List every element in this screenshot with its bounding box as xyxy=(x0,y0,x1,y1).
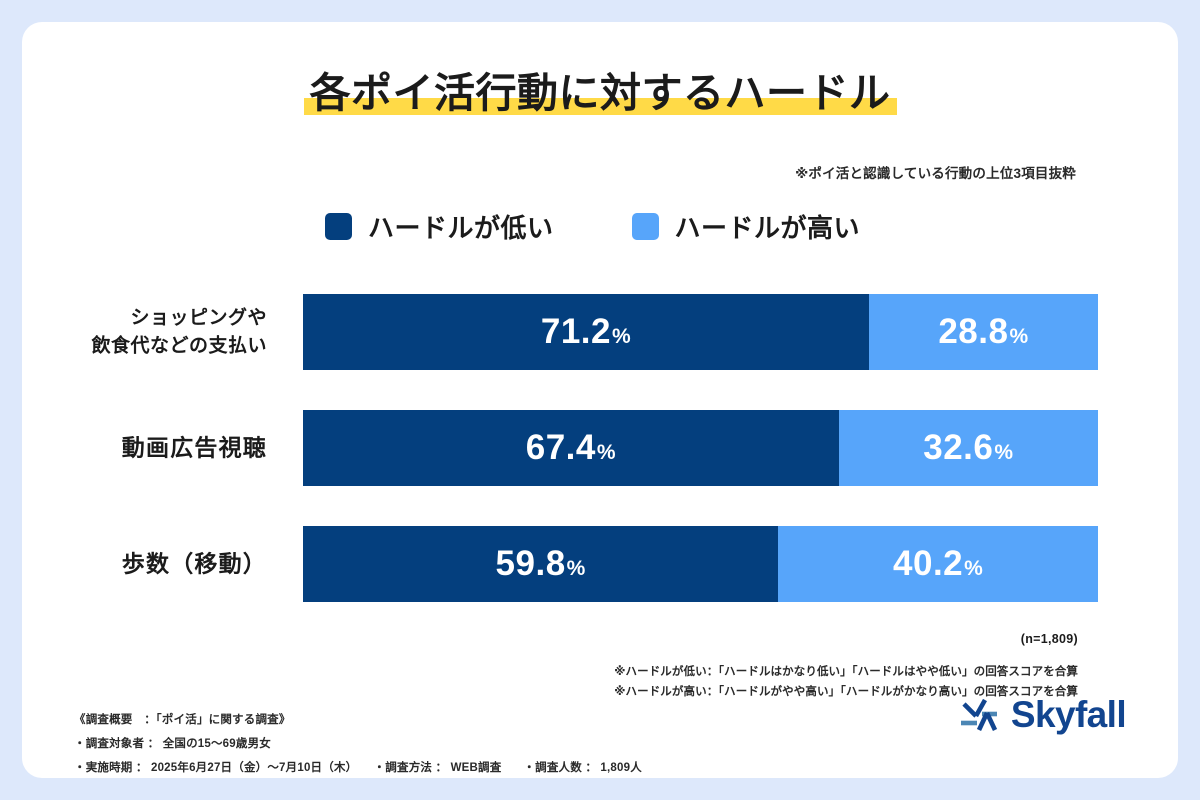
survey-heading: 《調査概要 ：「ポイ活」に関する調査》 xyxy=(74,708,664,732)
chart-row: ショッピングや 飲食代などの支払い 71.2% 28.8% xyxy=(22,294,1178,370)
bar-value-high: 28.8% xyxy=(938,312,1028,352)
skyfall-mark-icon xyxy=(957,692,1001,736)
title-block: 各ポイ活行動に対するハードル xyxy=(22,68,1178,119)
percent-sign: % xyxy=(612,325,631,349)
skyfall-wordmark: Skyfall xyxy=(1011,696,1126,733)
row-label-line: 歩数（移動） xyxy=(22,547,267,580)
bar-segment-high[interactable]: 40.2% xyxy=(778,526,1098,602)
bar-value-number: 40.2 xyxy=(893,544,963,584)
page-background: 各ポイ活行動に対するハードル ※ポイ活と認識している行動の上位3項目抜粋 ハード… xyxy=(0,0,1200,800)
bar-value-number: 71.2 xyxy=(541,312,611,352)
bar-value-number: 67.4 xyxy=(526,428,596,468)
bar-value-high: 40.2% xyxy=(893,544,983,584)
bar-segment-high[interactable]: 32.6% xyxy=(839,410,1098,486)
chart-row: 歩数（移動） 59.8% 40.2% xyxy=(22,526,1178,602)
bar-track: 71.2% 28.8% xyxy=(303,294,1098,370)
legend-label-low: ハードルが低い xyxy=(368,208,554,245)
row-label-payment: ショッピングや 飲食代などの支払い xyxy=(22,304,267,359)
bar-value-low: 71.2% xyxy=(541,312,631,352)
bar-segment-low[interactable]: 59.8% xyxy=(303,526,778,602)
percent-sign: % xyxy=(597,441,616,465)
stacked-bar-chart: ショッピングや 飲食代などの支払い 71.2% 28.8% xyxy=(22,294,1178,602)
survey-details: ・実施時期 ： 2025年6月27日（金）〜7月10日（木）・調査方法 ： WE… xyxy=(74,756,664,778)
bar-segment-high[interactable]: 28.8% xyxy=(869,294,1098,370)
row-label-line: 動画広告視聴 xyxy=(22,431,267,464)
row-label-video-ads: 動画広告視聴 xyxy=(22,431,267,464)
row-label-line: ショッピングや xyxy=(22,304,267,332)
bar-track: 67.4% 32.6% xyxy=(303,410,1098,486)
chart-row: 動画広告視聴 67.4% 32.6% xyxy=(22,410,1178,486)
bar-value-high: 32.6% xyxy=(923,428,1013,468)
survey-respondents: ・調査人数 ： 1,809人 xyxy=(523,762,641,774)
infographic-card: 各ポイ活行動に対するハードル ※ポイ活と認識している行動の上位3項目抜粋 ハード… xyxy=(22,22,1178,778)
skyfall-logo[interactable]: Skyfall xyxy=(957,692,1126,736)
bar-track: 59.8% 40.2% xyxy=(303,526,1098,602)
title-wrap: 各ポイ活行動に対するハードル xyxy=(304,68,897,119)
bar-segment-low[interactable]: 71.2% xyxy=(303,294,869,370)
legend-label-high: ハードルが高い xyxy=(675,208,861,245)
legend-swatch-low-icon xyxy=(325,213,352,240)
bar-value-number: 32.6 xyxy=(923,428,993,468)
survey-overview: 《調査概要 ：「ポイ活」に関する調査》 ・調査対象者 ： 全国の15〜69歳男女… xyxy=(74,708,664,778)
percent-sign: % xyxy=(567,557,586,581)
sample-size: (n=1,809) xyxy=(1021,632,1078,646)
survey-period: ・実施時期 ： 2025年6月27日（金）〜7月10日（木） xyxy=(74,762,352,774)
row-label-steps: 歩数（移動） xyxy=(22,547,267,580)
footnote-low: ※ハードルが低い：「ハードルはかなり低い」「ハードルはやや低い」の回答スコアを合… xyxy=(614,662,1078,682)
percent-sign: % xyxy=(994,441,1013,465)
title-subtitle: ※ポイ活と認識している行動の上位3項目抜粋 xyxy=(795,162,1076,182)
bar-segment-low[interactable]: 67.4% xyxy=(303,410,839,486)
percent-sign: % xyxy=(964,557,983,581)
bar-value-low: 59.8% xyxy=(496,544,586,584)
survey-method: ・調査方法 ： WEB調査 xyxy=(374,762,502,774)
legend-item-high[interactable]: ハードルが高い xyxy=(632,208,861,245)
legend-item-low[interactable]: ハードルが低い xyxy=(325,208,554,245)
row-label-line: 飲食代などの支払い xyxy=(22,332,267,360)
legend-swatch-high-icon xyxy=(632,213,659,240)
percent-sign: % xyxy=(1009,325,1028,349)
survey-target: ・調査対象者 ： 全国の15〜69歳男女 xyxy=(74,732,664,756)
chart-legend: ハードルが低い ハードルが高い xyxy=(325,208,860,245)
page-title: 各ポイ活行動に対するハードル xyxy=(310,70,891,116)
bar-value-low: 67.4% xyxy=(526,428,616,468)
bar-value-number: 59.8 xyxy=(496,544,566,584)
bar-value-number: 28.8 xyxy=(938,312,1008,352)
